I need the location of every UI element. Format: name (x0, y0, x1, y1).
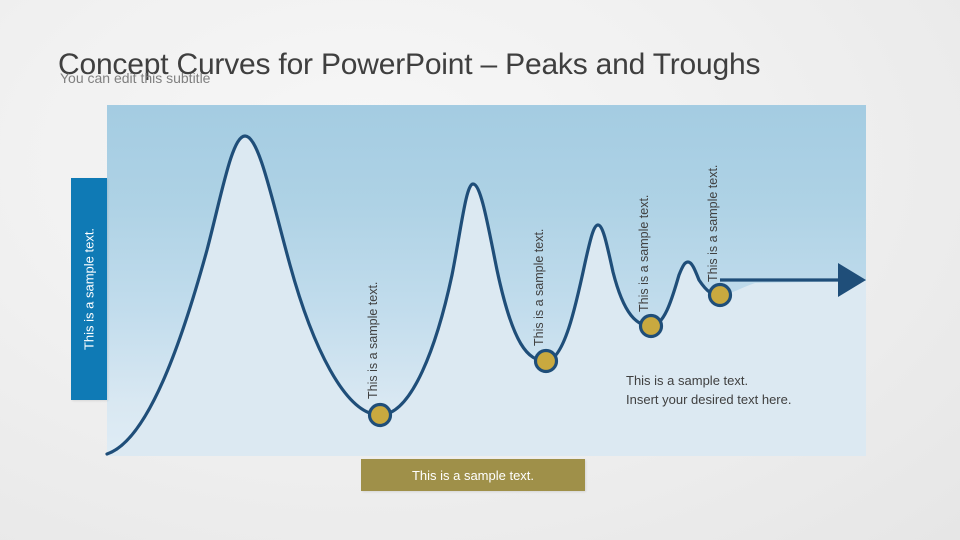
curve-label-4: This is a sample text. (706, 165, 720, 282)
curve-label-3: This is a sample text. (637, 195, 651, 312)
page-subtitle: You can edit this subtitle (60, 70, 210, 86)
body-text-line-1: This is a sample text. (626, 371, 791, 390)
left-vertical-tab-label: This is a sample text. (82, 228, 97, 350)
curve-label-1: This is a sample text. (366, 282, 380, 399)
body-text-block: This is a sample text. Insert your desir… (626, 371, 791, 409)
left-vertical-tab[interactable]: This is a sample text. (71, 178, 107, 400)
curve-label-2: This is a sample text. (532, 229, 546, 346)
slide-canvas: Concept Curves for PowerPoint – Peaks an… (0, 0, 960, 540)
bottom-caption-tab[interactable]: This is a sample text. (361, 459, 585, 491)
body-text-line-2: Insert your desired text here. (626, 390, 791, 409)
bottom-caption-tab-label: This is a sample text. (412, 468, 534, 483)
